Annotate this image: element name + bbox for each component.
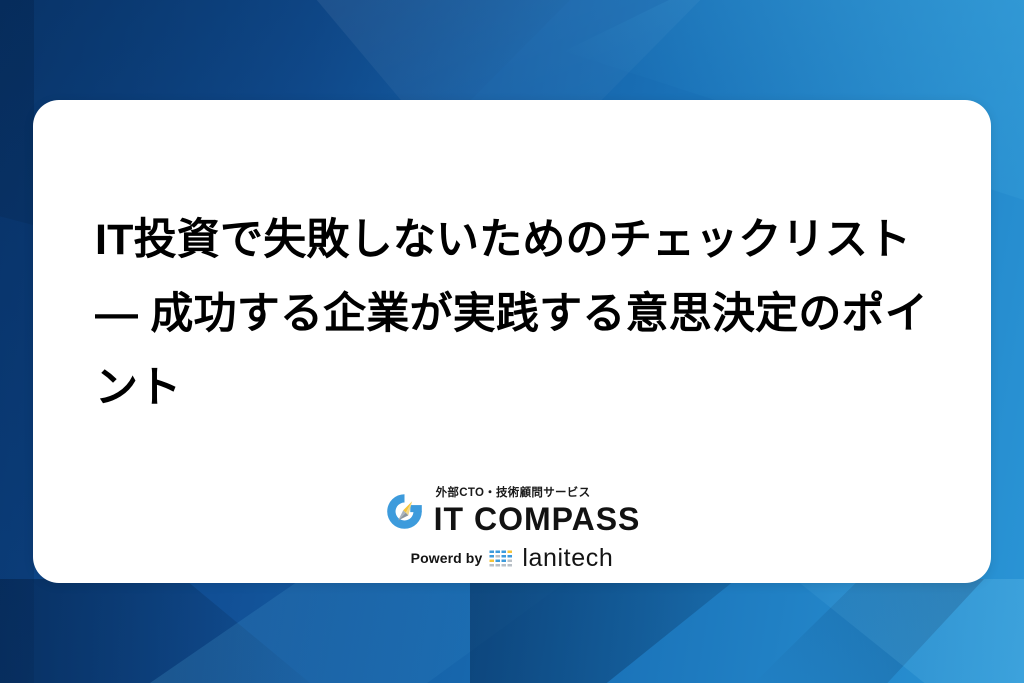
facet-bottom-1 — [0, 579, 310, 683]
logo-tagline: 外部CTO・技術顧問サービス — [434, 488, 591, 500]
dot-grid-icon — [489, 550, 515, 567]
facet-bottom-4 — [694, 579, 1024, 683]
facet-bottom-3 — [470, 579, 830, 683]
facet-bottom-5 — [754, 579, 984, 683]
powered-by-row: Powerd by — [411, 546, 614, 571]
lanitech-brand: lanitech — [522, 546, 613, 571]
content-card: IT投資で失敗しないためのチェックリスト ― 成功する企業が実践する意思決定のポ… — [33, 100, 991, 583]
facet-left-strip — [0, 0, 34, 683]
compass-icon — [384, 491, 425, 532]
brand-logo-block: 外部CTO・技術顧問サービス IT COMPASS Powerd by — [33, 488, 991, 571]
it-compass-logo: 外部CTO・技術顧問サービス IT COMPASS — [384, 488, 641, 535]
wordmark-column: 外部CTO・技術顧問サービス IT COMPASS — [434, 488, 641, 535]
logo-wordmark: IT COMPASS — [434, 503, 641, 535]
page-title: IT投資で失敗しないためのチェックリスト ― 成功する企業が実践する意思決定のポ… — [33, 100, 991, 426]
slide-canvas: IT投資で失敗しないためのチェックリスト ― 成功する企業が実践する意思決定のポ… — [0, 0, 1024, 683]
powered-by-label: Powerd by — [411, 551, 483, 565]
facet-bottom-2 — [150, 579, 570, 683]
